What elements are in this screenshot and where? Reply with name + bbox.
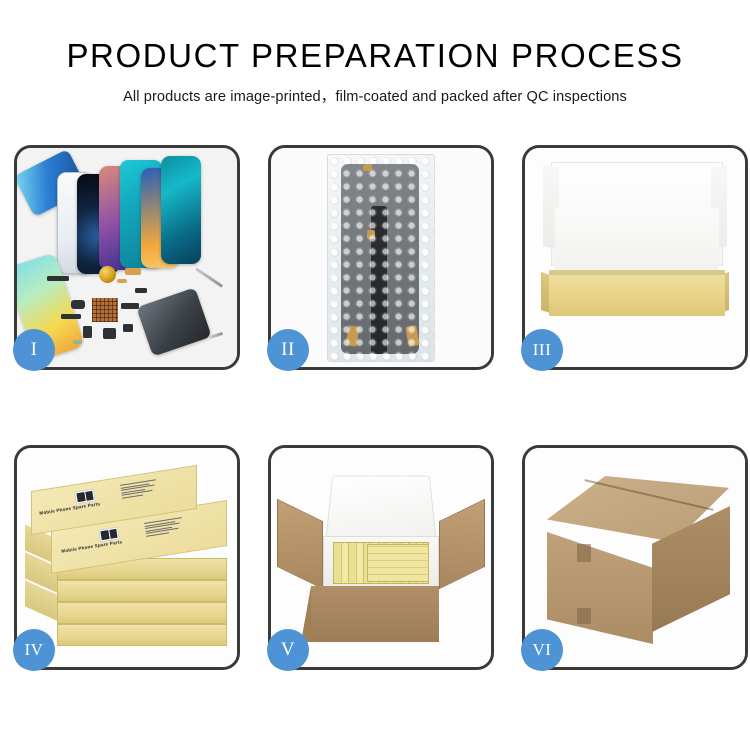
yellow-boxes-inside: [367, 544, 429, 582]
box-front-yellow: [549, 270, 725, 316]
tweezers-tool: [195, 267, 223, 287]
chip-part: [123, 324, 133, 332]
copper-shield-part: [92, 298, 118, 322]
carton-body: [311, 586, 439, 642]
carton-tape: [577, 544, 591, 562]
process-step-6: VI: [522, 445, 748, 670]
chip-part: [83, 326, 92, 338]
chip-part: [103, 328, 116, 339]
chip-part: [135, 288, 147, 293]
sensor-part: [73, 340, 82, 344]
chip-part: [47, 276, 69, 281]
chip-part: [71, 300, 85, 309]
connector-tab: [363, 164, 372, 171]
process-step-5: V: [268, 445, 494, 670]
step-4-image: Mobile Phone Spare Parts Mobile Phone Sp…: [17, 448, 237, 667]
step-number-badge: VI: [521, 629, 563, 671]
wrapped-screen-strip: [371, 206, 387, 354]
step-number-badge: V: [267, 629, 309, 671]
carton-flap-right: [439, 499, 485, 589]
stacked-box: [57, 602, 227, 624]
step-2-image: [271, 148, 491, 367]
connector-tab: [367, 230, 375, 239]
step-number-badge: III: [521, 329, 563, 371]
step-6-image: [525, 448, 745, 667]
phone-screen-swirl: [161, 156, 201, 264]
process-step-1: I: [14, 145, 240, 370]
stacked-box: [57, 624, 227, 646]
screwdriver-tool: [209, 332, 223, 339]
chip-part: [121, 303, 139, 309]
flex-cable-part: [125, 268, 141, 275]
flex-cable-part: [117, 279, 127, 283]
page-title: PRODUCT PREPARATION PROCESS: [0, 36, 750, 76]
carton-tape: [577, 608, 591, 624]
foam-lid: [325, 476, 436, 541]
step-number-badge: I: [13, 329, 55, 371]
phone-back-cover: [136, 287, 212, 356]
step-number-badge: IV: [13, 629, 55, 671]
box-interior: [555, 208, 719, 278]
carton-flap-left: [277, 499, 323, 589]
chip-part: [61, 314, 81, 319]
product-preparation-infographic: PRODUCT PREPARATION PROCESS All products…: [0, 0, 750, 750]
step-number-badge: II: [267, 329, 309, 371]
process-step-4: Mobile Phone Spare Parts Mobile Phone Sp…: [14, 445, 240, 670]
header: PRODUCT PREPARATION PROCESS All products…: [0, 36, 750, 106]
step-1-image: [17, 148, 237, 367]
step-3-image: [525, 148, 745, 367]
process-step-3: III: [522, 145, 748, 370]
speaker-coil-part: [99, 266, 116, 283]
stacked-box: [57, 580, 227, 602]
process-step-grid: I II: [14, 145, 742, 670]
process-step-2: II: [268, 145, 494, 370]
carton-front-face: [547, 532, 653, 644]
step-5-image: [271, 448, 491, 667]
page-subtitle: All products are image-printed，film-coat…: [0, 85, 750, 106]
